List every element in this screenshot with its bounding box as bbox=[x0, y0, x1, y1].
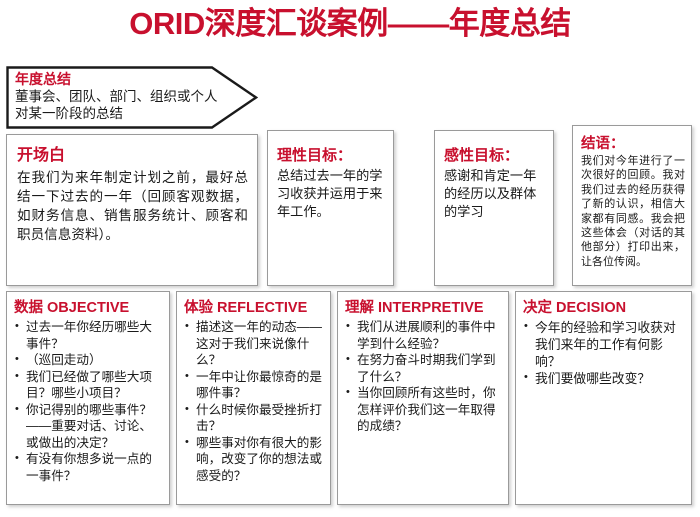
list-item: 我们已经做了哪些大项目？哪些小项目？ bbox=[14, 369, 164, 402]
rational-goal-box: 理性目标： 总结过去一年的学习收获并运用于来年工作。 bbox=[267, 130, 394, 286]
arrow-banner-heading: 年度总结 bbox=[15, 70, 225, 88]
annual-summary-arrow-banner: 年度总结 董事会、团队、部门、组织或个人对某一阶段的总结 bbox=[6, 66, 258, 129]
list-item: 你记得别的哪些事件？——重要对话、讨论、或做出的决定？ bbox=[14, 402, 164, 452]
list-item: 我们要做哪些改变？ bbox=[523, 370, 686, 387]
list-item: 我们从进展顺利的事件中学到什么经验？ bbox=[345, 319, 503, 352]
emotional-goal-body: 感谢和肯定一年的经历以及群体的学习 bbox=[444, 167, 547, 221]
list-item: 哪些事对你有很大的影响，改变了你的想法或感受的？ bbox=[184, 435, 325, 485]
list-item: 今年的经验和学习收获对我们来年的工作有何影响？ bbox=[523, 319, 686, 370]
orid-objective-list: 过去一年你经历哪些大事件？ （巡回走动） 我们已经做了哪些大项目？哪些小项目？ … bbox=[14, 319, 164, 484]
opening-body: 在我们为来年制定计划之前，最好总结一下过去的一年（回顾客观数据，如财务信息、销售… bbox=[17, 168, 248, 244]
emotional-goal-box: 感性目标： 感谢和肯定一年的经历以及群体的学习 bbox=[434, 130, 554, 286]
orid-decision-list: 今年的经验和学习收获对我们来年的工作有何影响？ 我们要做哪些改变？ bbox=[523, 319, 686, 387]
list-item: 一年中让你最惊奇的是哪件事？ bbox=[184, 369, 325, 402]
orid-card-decision: 决定 DECISION 今年的经验和学习收获对我们来年的工作有何影响？ 我们要做… bbox=[515, 291, 692, 505]
orid-reflective-list: 描述这一年的动态——这对于我们来说像什么？ 一年中让你最惊奇的是哪件事？ 什么时… bbox=[184, 319, 325, 484]
orid-card-interpretive: 理解 INTERPRETIVE 我们从进展顺利的事件中学到什么经验？ 在努力奋斗… bbox=[337, 291, 509, 505]
closing-statement-box: 结语： 我们对今年进行了一次很好的回顾。我对我们过去的经历获得了新的认识，相信大… bbox=[572, 125, 692, 286]
page-title: ORID深度汇谈案例——年度总结 bbox=[0, 2, 700, 46]
closing-body: 我们对今年进行了一次很好的回顾。我对我们过去的经历获得了新的认识，相信大家都有同… bbox=[581, 154, 685, 269]
list-item: （巡回走动） bbox=[14, 352, 164, 369]
list-item: 什么时候你最受挫折打击？ bbox=[184, 402, 325, 435]
arrow-banner-body: 董事会、团队、部门、组织或个人对某一阶段的总结 bbox=[15, 88, 225, 122]
list-item: 过去一年你经历哪些大事件？ bbox=[14, 319, 164, 352]
rational-goal-heading: 理性目标： bbox=[277, 145, 386, 166]
orid-reflective-heading: 体验 REFLECTIVE bbox=[184, 298, 325, 318]
list-item: 当你回顾所有这些时，你怎样评价我们这一年取得的成绩？ bbox=[345, 385, 503, 435]
orid-decision-heading: 决定 DECISION bbox=[523, 298, 686, 318]
list-item: 有没有你想多说一点的一事件？ bbox=[14, 451, 164, 484]
orid-card-objective: 数据 OBJECTIVE 过去一年你经历哪些大事件？ （巡回走动） 我们已经做了… bbox=[6, 291, 170, 505]
opening-heading: 开场白 bbox=[17, 145, 248, 167]
orid-interpretive-heading: 理解 INTERPRETIVE bbox=[345, 298, 503, 318]
emotional-goal-heading: 感性目标： bbox=[444, 145, 547, 166]
rational-goal-body: 总结过去一年的学习收获并运用于来年工作。 bbox=[277, 167, 386, 221]
list-item: 在努力奋斗时期我们学到了什么？ bbox=[345, 352, 503, 385]
list-item: 描述这一年的动态——这对于我们来说像什么？ bbox=[184, 319, 325, 369]
orid-interpretive-list: 我们从进展顺利的事件中学到什么经验？ 在努力奋斗时期我们学到了什么？ 当你回顾所… bbox=[345, 319, 503, 435]
closing-heading: 结语： bbox=[581, 135, 685, 154]
opening-statement-box: 开场白 在我们为来年制定计划之前，最好总结一下过去的一年（回顾客观数据，如财务信… bbox=[6, 134, 258, 286]
orid-objective-heading: 数据 OBJECTIVE bbox=[14, 298, 164, 318]
orid-card-reflective: 体验 REFLECTIVE 描述这一年的动态——这对于我们来说像什么？ 一年中让… bbox=[176, 291, 331, 505]
